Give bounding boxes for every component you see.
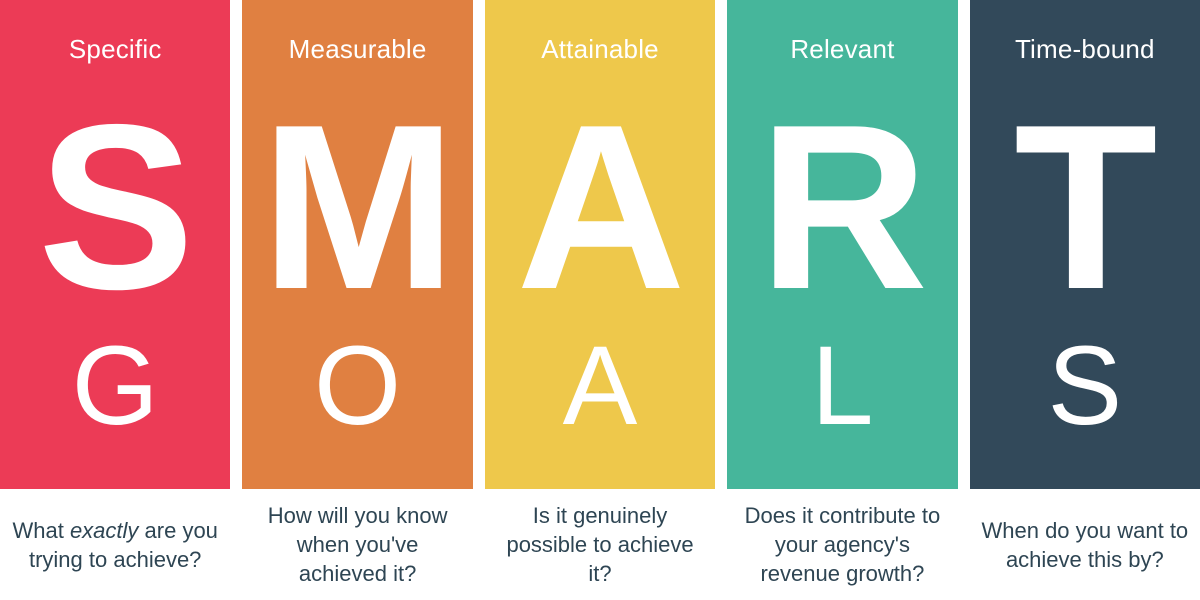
caption-cell-time-bound: When do you want to achieve this by?	[970, 489, 1200, 600]
big-letter-m: M	[242, 104, 472, 309]
sub-letter-a: A	[485, 330, 715, 442]
caption-text-specific: What exactly are you trying to achieve?	[10, 516, 220, 574]
column-time-bound: Time-bound T S	[970, 0, 1200, 489]
big-letter-s: S	[0, 104, 230, 309]
column-header-measurable: Measurable	[242, 36, 472, 62]
big-letter-a: A	[485, 104, 715, 309]
sub-letter-s: S	[970, 330, 1200, 442]
caption-text-measurable: How will you know when you've achieved i…	[252, 501, 462, 588]
caption-cell-measurable: How will you know when you've achieved i…	[242, 489, 472, 600]
sub-letter-o: O	[242, 330, 472, 442]
sub-letter-g: G	[0, 330, 230, 442]
smart-goals-infographic: Specific S G Measurable M O Attainable A…	[0, 0, 1200, 600]
column-header-time-bound: Time-bound	[970, 36, 1200, 62]
big-letter-t: T	[970, 104, 1200, 309]
caption-text-time-bound: When do you want to achieve this by?	[980, 516, 1190, 574]
caption-group: What exactly are you trying to achieve? …	[0, 489, 1200, 600]
color-column-group: Specific S G Measurable M O Attainable A…	[0, 0, 1200, 489]
caption-cell-relevant: Does it contribute to your agency's reve…	[727, 489, 957, 600]
sub-letter-l: L	[727, 330, 957, 442]
big-letter-r: R	[727, 104, 957, 309]
column-specific: Specific S G	[0, 0, 230, 489]
caption-emphasis: exactly	[70, 518, 138, 543]
caption-text-attainable: Is it genuinely possible to achieve it?	[495, 501, 705, 588]
caption-cell-specific: What exactly are you trying to achieve?	[0, 489, 230, 600]
caption-text-relevant: Does it contribute to your agency's reve…	[737, 501, 947, 588]
column-measurable: Measurable M O	[242, 0, 472, 489]
column-header-specific: Specific	[0, 36, 230, 62]
column-relevant: Relevant R L	[727, 0, 957, 489]
column-header-attainable: Attainable	[485, 36, 715, 62]
column-header-relevant: Relevant	[727, 36, 957, 62]
caption-cell-attainable: Is it genuinely possible to achieve it?	[485, 489, 715, 600]
column-attainable: Attainable A A	[485, 0, 715, 489]
